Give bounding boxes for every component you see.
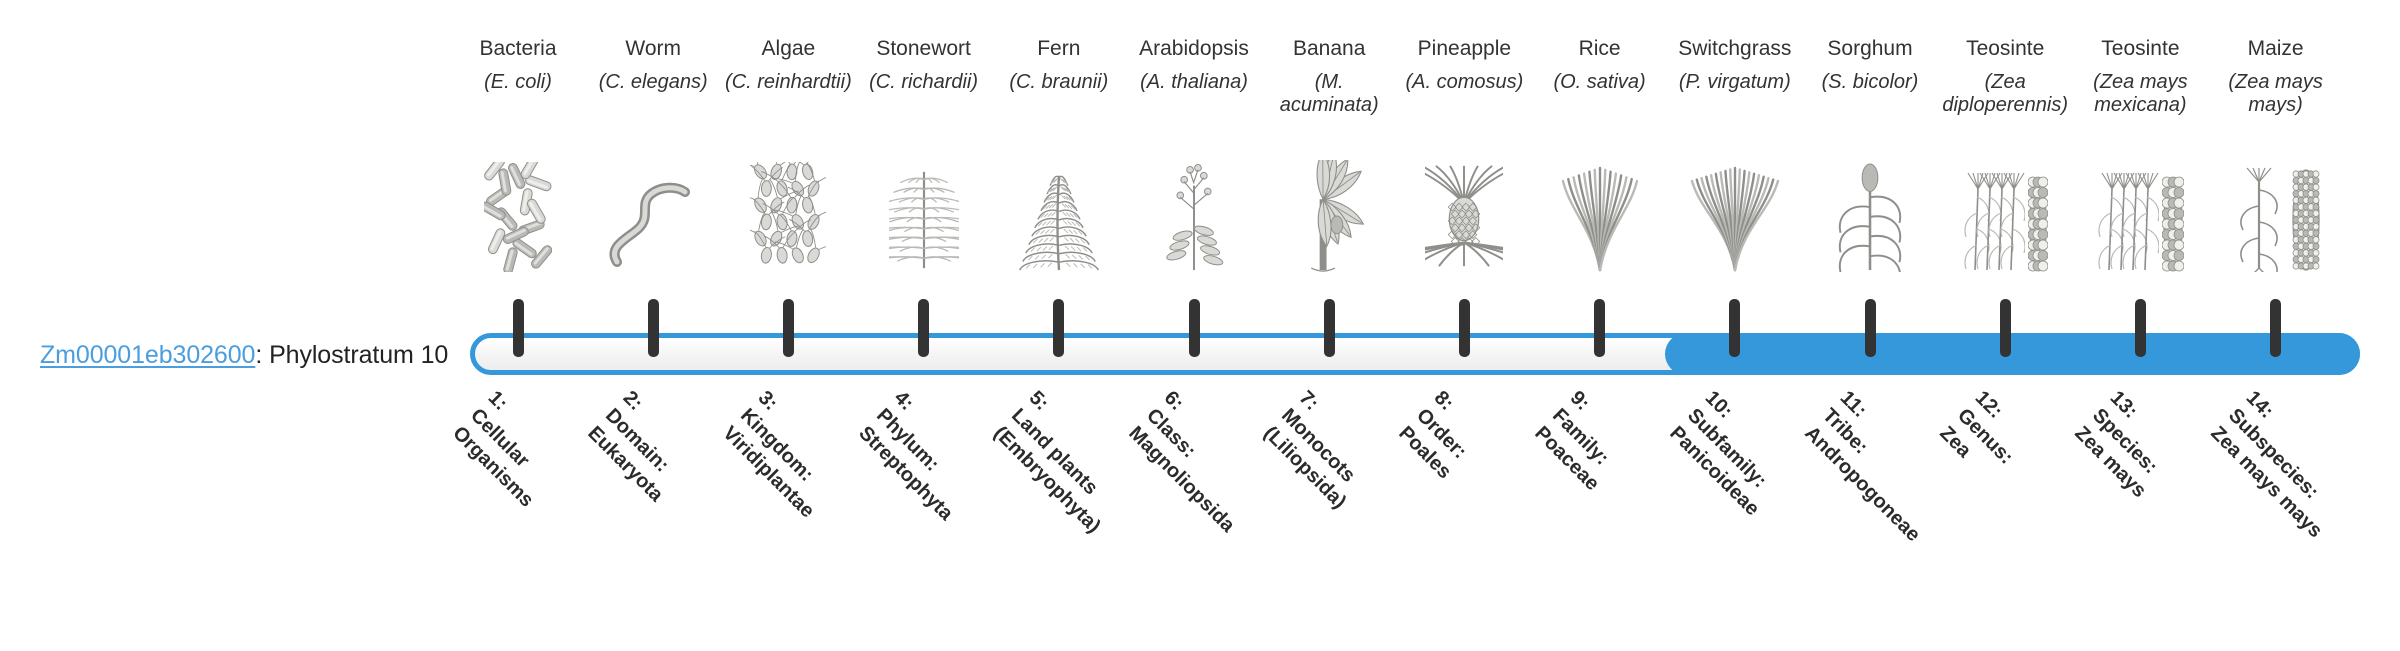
tick-mark-7 bbox=[1324, 299, 1335, 357]
phylostratum-diagram: Zm00001eb302600: Phylostratum 10 Bacteri… bbox=[0, 0, 2400, 580]
stonewort-icon bbox=[860, 162, 988, 272]
species-latin-name: (O. sativa) bbox=[1536, 71, 1664, 94]
species-latin-name: (A. comosus) bbox=[1400, 71, 1528, 94]
species-column-pineapple: Pineapple (A. comosus) bbox=[1400, 36, 1528, 94]
species-column-fern: Fern (C. braunii) bbox=[995, 36, 1123, 94]
tick-mark-9 bbox=[1594, 299, 1605, 357]
species-common-name: Switchgrass bbox=[1671, 36, 1799, 62]
arabidopsis-icon bbox=[1130, 162, 1258, 272]
species-column-switchgrass: Switchgrass (P. virgatum) bbox=[1671, 36, 1799, 94]
maize-icon bbox=[2212, 162, 2340, 272]
species-common-name: Maize bbox=[2212, 36, 2340, 62]
species-latin-name: (C. reinhardtii) bbox=[724, 71, 852, 94]
species-common-name: Rice bbox=[1536, 36, 1664, 62]
tick-mark-2 bbox=[648, 299, 659, 357]
teosinte-mexicana-icon bbox=[2076, 162, 2204, 272]
fern-icon bbox=[995, 162, 1123, 272]
tick-mark-8 bbox=[1459, 299, 1470, 357]
algae-icon bbox=[724, 162, 852, 272]
rice-icon bbox=[1536, 162, 1664, 272]
bacteria-icon bbox=[454, 162, 582, 272]
species-latin-name: (E. coli) bbox=[454, 71, 582, 94]
species-common-name: Bacteria bbox=[454, 36, 582, 62]
species-common-name: Arabidopsis bbox=[1130, 36, 1258, 62]
species-latin-name: (A. thaliana) bbox=[1130, 71, 1258, 94]
worm-icon bbox=[589, 162, 717, 272]
species-common-name: Fern bbox=[995, 36, 1123, 62]
tick-mark-3 bbox=[783, 299, 794, 357]
gene-accession-link[interactable]: Zm00001eb302600 bbox=[40, 341, 255, 369]
species-column-arabidopsis: Arabidopsis (A. thaliana) bbox=[1130, 36, 1258, 94]
tick-mark-4 bbox=[918, 299, 929, 357]
switchgrass-icon bbox=[1671, 162, 1799, 272]
species-column-rice: Rice (O. sativa) bbox=[1536, 36, 1664, 94]
gene-label-separator: : bbox=[255, 341, 269, 369]
species-latin-name: (C. richardii) bbox=[860, 71, 988, 94]
tick-mark-10 bbox=[1729, 299, 1740, 357]
banana-icon bbox=[1265, 162, 1393, 272]
species-column-banana: Banana (M. acuminata) bbox=[1265, 36, 1393, 117]
species-common-name: Teosinte bbox=[2076, 36, 2204, 62]
species-common-name: Teosinte bbox=[1941, 36, 2069, 62]
species-column-teosinte: Teosinte (Zea mays mexicana) bbox=[2076, 36, 2204, 117]
species-column-algae: Algae (C. reinhardtii) bbox=[724, 36, 852, 94]
sorghum-icon bbox=[1806, 162, 1934, 272]
tick-mark-1 bbox=[513, 299, 524, 357]
species-column-bacteria: Bacteria (E. coli) bbox=[454, 36, 582, 94]
phylostratum-track[interactable] bbox=[470, 325, 2370, 383]
pineapple-icon bbox=[1400, 162, 1528, 272]
species-common-name: Stonewort bbox=[860, 36, 988, 62]
species-latin-name: (S. bicolor) bbox=[1806, 71, 1934, 94]
gene-phylostratum-label: Zm00001eb302600: Phylostratum 10 bbox=[40, 341, 448, 370]
species-column-teosinte: Teosinte (Zea diploperennis) bbox=[1941, 36, 2069, 117]
species-latin-name: (C. braunii) bbox=[995, 71, 1123, 94]
species-common-name: Algae bbox=[724, 36, 852, 62]
species-latin-name: (M. acuminata) bbox=[1265, 71, 1393, 117]
tick-mark-6 bbox=[1189, 299, 1200, 357]
species-common-name: Pineapple bbox=[1400, 36, 1528, 62]
species-latin-name: (Zea mays mays) bbox=[2212, 71, 2340, 117]
tick-mark-12 bbox=[2000, 299, 2011, 357]
tick-mark-14 bbox=[2270, 299, 2281, 357]
gene-phylostratum-value: Phylostratum 10 bbox=[269, 341, 448, 369]
species-latin-name: (Zea diploperennis) bbox=[1941, 71, 2069, 117]
tick-mark-5 bbox=[1053, 299, 1064, 357]
species-common-name: Worm bbox=[589, 36, 717, 62]
species-latin-name: (Zea mays mexicana) bbox=[2076, 71, 2204, 117]
species-latin-name: (C. elegans) bbox=[589, 71, 717, 94]
teosinte-diploperennis-icon bbox=[1941, 162, 2069, 272]
species-common-name: Sorghum bbox=[1806, 36, 1934, 62]
tick-mark-11 bbox=[1865, 299, 1876, 357]
track-fill bbox=[1665, 333, 2360, 375]
species-column-maize: Maize (Zea mays mays) bbox=[2212, 36, 2340, 117]
species-column-worm: Worm (C. elegans) bbox=[589, 36, 717, 94]
species-common-name: Banana bbox=[1265, 36, 1393, 62]
tick-mark-13 bbox=[2135, 299, 2146, 357]
species-latin-name: (P. virgatum) bbox=[1671, 71, 1799, 94]
species-column-sorghum: Sorghum (S. bicolor) bbox=[1806, 36, 1934, 94]
species-column-stonewort: Stonewort (C. richardii) bbox=[860, 36, 988, 94]
